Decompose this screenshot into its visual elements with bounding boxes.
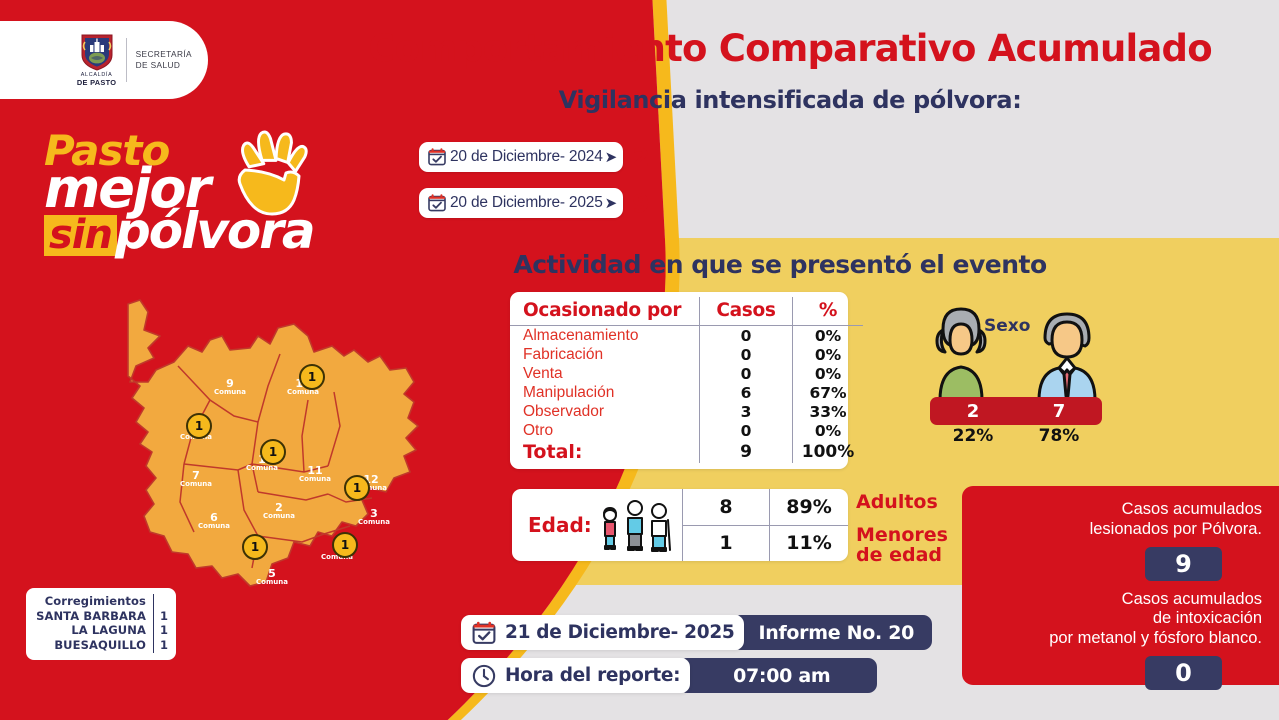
report-date-pill: 21 de Diciembre- 2025 bbox=[461, 615, 744, 650]
accumulated-injured-l2: lesionados por Pólvora. bbox=[980, 520, 1262, 540]
cell-cases: 0 bbox=[700, 326, 793, 346]
chevron-right-icon: ➤ bbox=[605, 150, 618, 165]
cell-pct: 33% bbox=[793, 402, 864, 421]
sexo-pcts: 22% 78% bbox=[930, 426, 1102, 446]
report-time-label: Hora del reporte: bbox=[505, 665, 680, 686]
corregimiento-name: LA LAGUNA bbox=[26, 623, 146, 638]
corregimiento-name: SANTA BARBARA bbox=[26, 609, 146, 624]
table-row-total: Total: 9 100% bbox=[510, 440, 863, 463]
cell-pct: 0% bbox=[793, 326, 864, 346]
accumulated-cases-box: Casos acumulados lesionados por Pólvora.… bbox=[962, 486, 1279, 685]
sexo-female-count: 2 bbox=[930, 397, 1016, 425]
accumulated-intox-l1: Casos acumulados bbox=[980, 590, 1262, 610]
edad-adults-note: Adultos bbox=[856, 493, 966, 513]
cell-cause: Otro bbox=[510, 421, 700, 440]
map-case-marker[interactable]: 1 bbox=[242, 534, 268, 560]
corregimiento-name: BUESAQUILLO bbox=[26, 638, 146, 653]
lockup-sin: sin bbox=[44, 215, 117, 256]
activity-table-card: Ocasionado por Casos % Almacenamiento 0 … bbox=[510, 292, 848, 469]
table-header-row: Ocasionado por Casos % bbox=[510, 297, 863, 326]
corregimiento-value: 1 bbox=[160, 609, 168, 624]
clock-icon bbox=[471, 663, 497, 689]
logo-divider bbox=[126, 38, 127, 82]
accumulated-intox-text: Casos acumulados de intoxicación por met… bbox=[980, 590, 1262, 649]
infographic-canvas: ALCALDÍA DE PASTO SECRETARÍA DE SALUD Pa… bbox=[0, 0, 1279, 720]
comparison-value: 2 bbox=[632, 143, 649, 172]
cell-pct: 67% bbox=[793, 383, 864, 402]
cell-cases: 6 bbox=[700, 383, 793, 402]
edad-pcts-col: 89% 11% bbox=[769, 489, 848, 561]
cell-cause: Observador bbox=[510, 402, 700, 421]
comparison-row-2025: 20 de Diciembre- 2025 ➤ 9 bbox=[419, 188, 650, 218]
calendar-icon bbox=[427, 147, 447, 167]
table-row: Otro 0 0% bbox=[510, 421, 863, 440]
sexo-section: Sexo 2 7 22% 78% bbox=[912, 300, 1122, 450]
sexo-male-pct: 78% bbox=[1016, 426, 1102, 446]
sexo-counts-bar: 2 7 bbox=[930, 397, 1102, 425]
edad-label: Edad: bbox=[512, 513, 592, 537]
report-number-badge: Informe No. 20 bbox=[732, 615, 932, 650]
cell-total-label: Total: bbox=[510, 440, 700, 463]
report-date-text: 21 de Diciembre- 2025 bbox=[505, 622, 734, 643]
accumulated-injured-text: Casos acumulados lesionados por Pólvora. bbox=[980, 500, 1262, 540]
calendar-icon bbox=[471, 620, 497, 646]
chevron-right-icon: ➤ bbox=[605, 196, 618, 211]
activity-table: Ocasionado por Casos % Almacenamiento 0 … bbox=[510, 297, 863, 463]
col-header-pct: % bbox=[793, 297, 864, 326]
table-row: Venta 0 0% bbox=[510, 364, 863, 383]
map-case-marker[interactable]: 1 bbox=[260, 439, 286, 465]
edad-minors-count: 1 bbox=[683, 526, 769, 562]
secretaria-line-2: DE SALUD bbox=[136, 60, 192, 71]
comparison-value: 9 bbox=[632, 189, 649, 218]
report-time-value: 07:00 am bbox=[678, 658, 877, 693]
report-time-pill: Hora del reporte: bbox=[461, 658, 690, 693]
report-time-row: Hora del reporte: 07:00 am bbox=[461, 658, 877, 693]
cell-total-cases: 9 bbox=[700, 440, 793, 463]
cell-cause: Venta bbox=[510, 364, 700, 383]
corregimientos-values: ​ 1 1 1 bbox=[153, 594, 176, 653]
col-header-cases: Casos bbox=[700, 297, 793, 326]
sexo-female-pct: 22% bbox=[930, 426, 1016, 446]
cell-pct: 0% bbox=[793, 345, 864, 364]
corregimientos-names: Corregimientos SANTA BARBARA LA LAGUNA B… bbox=[26, 594, 153, 653]
edad-minors-note-l1: Menores bbox=[856, 526, 966, 546]
cell-cases: 0 bbox=[700, 421, 793, 440]
campaign-lockup: Pasto mejor sin pólvora bbox=[44, 132, 344, 282]
cell-cases: 0 bbox=[700, 364, 793, 383]
map-case-marker[interactable]: 1 bbox=[186, 413, 212, 439]
edad-minors-note: Menores de edad bbox=[856, 526, 966, 566]
cell-pct: 0% bbox=[793, 364, 864, 383]
alcaldia-crest-icon: ALCALDÍA DE PASTO bbox=[77, 33, 117, 87]
table-row: Manipulación 6 67% bbox=[510, 383, 863, 402]
edad-counts-col: 8 1 bbox=[682, 489, 769, 561]
sexo-title: Sexo bbox=[984, 316, 1030, 336]
corregimiento-value: 1 bbox=[160, 638, 168, 653]
comparison-pill: 20 de Diciembre- 2024 ➤ bbox=[419, 142, 623, 172]
comparison-date: 20 de Diciembre- 2024 bbox=[450, 148, 603, 166]
activity-section-title: Actividad en que se presentó el evento bbox=[460, 250, 1100, 279]
cell-cases: 0 bbox=[700, 345, 793, 364]
edad-minors-note-l2: de edad bbox=[856, 546, 966, 566]
accumulated-injured-value: 9 bbox=[1145, 547, 1222, 581]
comparison-row-2024: 20 de Diciembre- 2024 ➤ 2 bbox=[419, 142, 650, 172]
accumulated-intox-l3: por metanol y fósforo blanco. bbox=[980, 629, 1262, 649]
table-row: Observador 3 33% bbox=[510, 402, 863, 421]
edad-adults-pct: 89% bbox=[770, 489, 848, 526]
corregimientos-card: Corregimientos SANTA BARBARA LA LAGUNA B… bbox=[26, 588, 176, 660]
age-figures-icon bbox=[599, 498, 677, 552]
comparison-pill: 20 de Diciembre- 2025 ➤ bbox=[419, 188, 623, 218]
comparison-date: 20 de Diciembre- 2025 bbox=[450, 194, 603, 212]
col-header-cause: Ocasionado por bbox=[510, 297, 700, 326]
corregimiento-value: 1 bbox=[160, 623, 168, 638]
cell-cause: Almacenamiento bbox=[510, 326, 700, 346]
secretaria-line-1: SECRETARÍA bbox=[136, 49, 192, 60]
sexo-male-count: 7 bbox=[1016, 397, 1102, 425]
table-row: Fabricación 0 0% bbox=[510, 345, 863, 364]
report-date-row: 21 de Diciembre- 2025 Informe No. 20 bbox=[461, 615, 932, 650]
map-case-marker[interactable]: 1 bbox=[332, 532, 358, 558]
pasto-commune-map: 9 Comuna 10 Comuna 8 Comuna 1 Comuna 11 … bbox=[118, 296, 428, 606]
cell-cause: Manipulación bbox=[510, 383, 700, 402]
calendar-icon bbox=[427, 193, 447, 213]
cell-cause: Fabricación bbox=[510, 345, 700, 364]
cell-pct: 0% bbox=[793, 421, 864, 440]
edad-card: Edad: bbox=[512, 489, 848, 561]
accumulated-injured-l1: Casos acumulados bbox=[980, 500, 1262, 520]
table-row: Almacenamiento 0 0% bbox=[510, 326, 863, 346]
edad-grid: 8 1 89% 11% bbox=[682, 489, 848, 561]
cell-cases: 3 bbox=[700, 402, 793, 421]
page-title: Comportamiento Comparativo Acumulado bbox=[340, 27, 1240, 70]
map-case-marker[interactable]: 1 bbox=[344, 475, 370, 501]
corregimientos-title: Corregimientos bbox=[26, 594, 146, 609]
logo-pill: ALCALDÍA DE PASTO SECRETARÍA DE SALUD bbox=[0, 21, 208, 99]
crest-pasto-label: DE PASTO bbox=[77, 78, 117, 87]
edad-notes: Adultos Menores de edad bbox=[856, 489, 966, 566]
hand-icon bbox=[229, 126, 311, 222]
cell-total-pct: 100% bbox=[793, 440, 864, 463]
edad-adults-count: 8 bbox=[683, 489, 769, 526]
page-subtitle: Vigilancia intensificada de pólvora: bbox=[340, 86, 1240, 114]
accumulated-intox-l2: de intoxicación bbox=[980, 609, 1262, 629]
accumulated-intox-value: 0 bbox=[1145, 656, 1222, 690]
map-case-marker[interactable]: 1 bbox=[299, 364, 325, 390]
secretaria-label: SECRETARÍA DE SALUD bbox=[136, 49, 192, 71]
edad-minors-pct: 11% bbox=[770, 526, 848, 562]
